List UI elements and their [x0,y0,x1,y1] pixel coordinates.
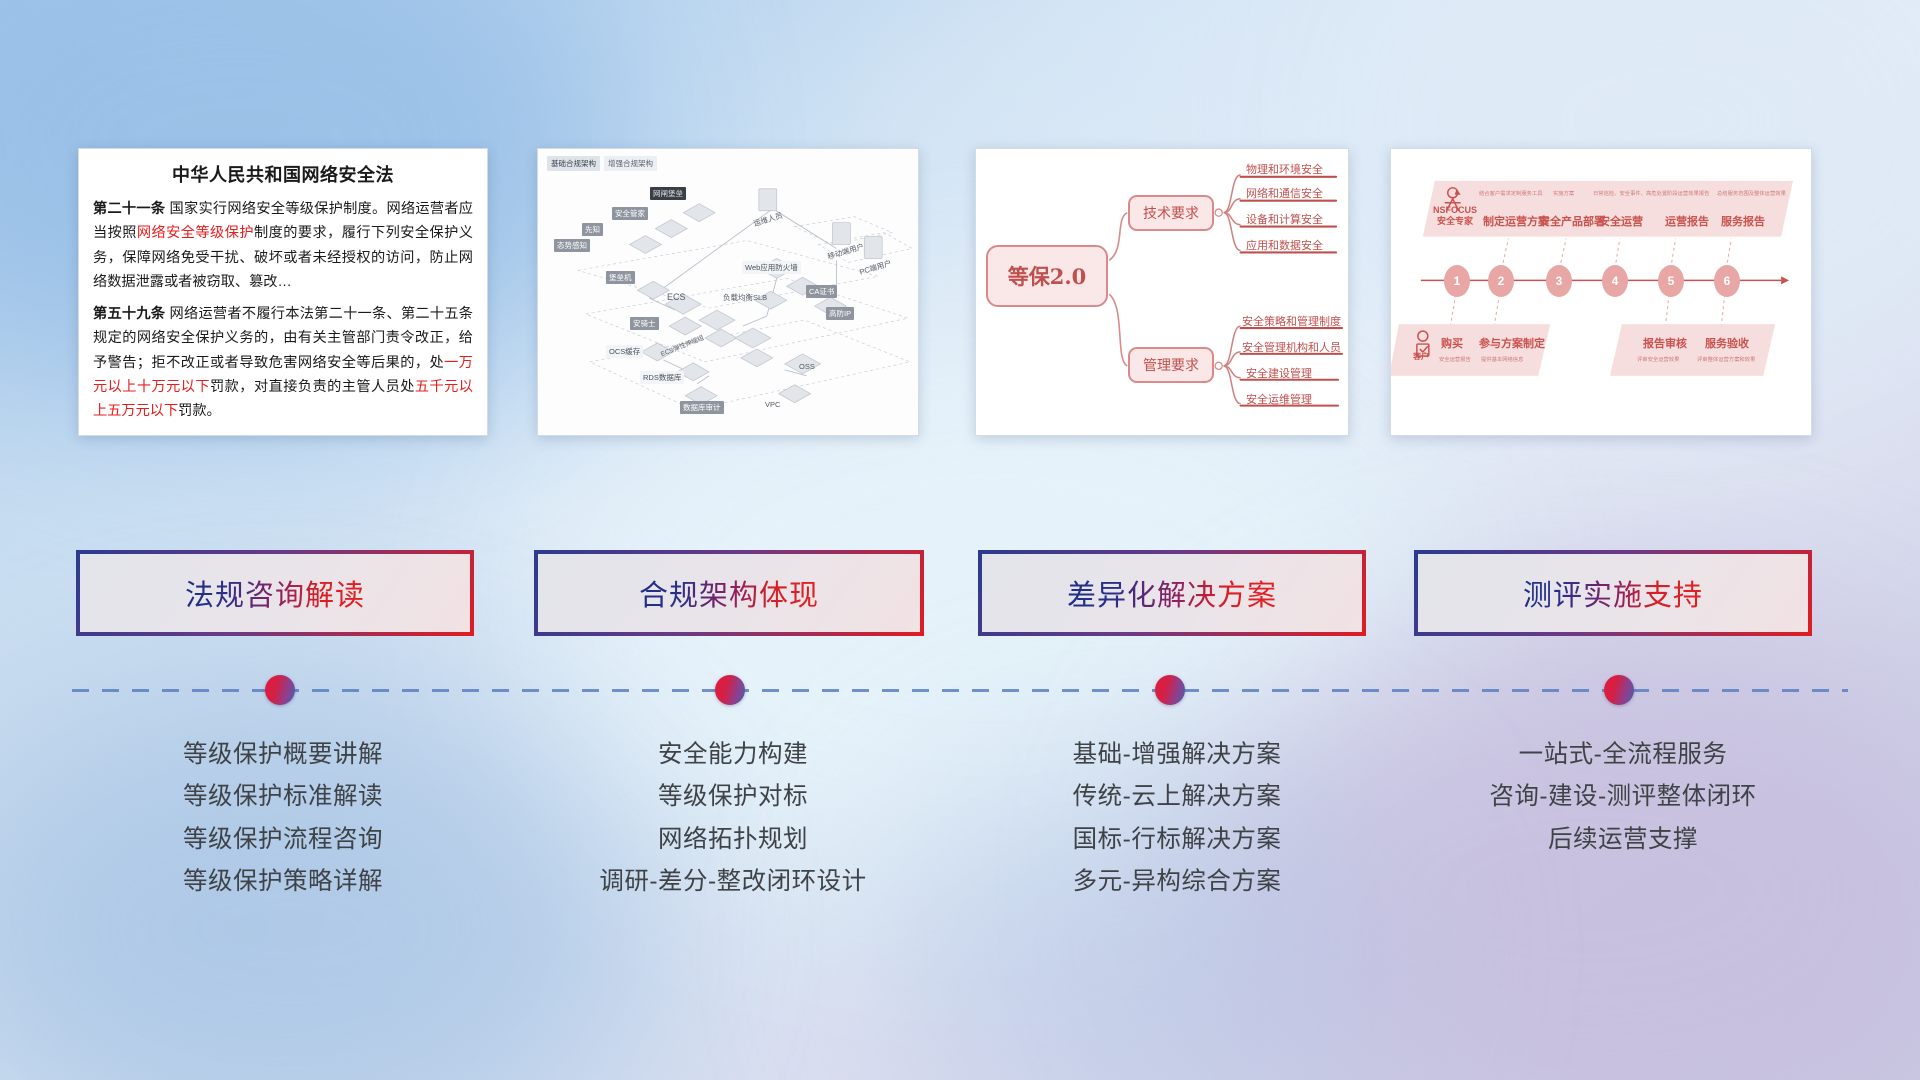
timeline-step-label: 购买 [1441,335,1463,351]
section-title-box-1[interactable]: 法规咨询解读 [76,550,474,636]
section-items-column-4: 一站式-全流程服务 咨询-建设-测评整体闭环 后续运营支撑 [1398,734,1848,861]
architecture-diagram: 基础合规架构 增强合规架构 [538,149,918,435]
section-titles-row: 法规咨询解读 合规架构体现 差异化解决方案 测评实施支持 [0,550,1920,636]
timeline-rail [72,688,1848,692]
list-item: 等级保护标准解读 [58,776,508,818]
list-item: 网络拓扑规划 [508,819,958,861]
timeline-step-sub: 结合客户需求定制服务工具 [1479,189,1543,197]
timeline-step-number: 3 [1546,265,1572,297]
timeline-step-sub: 安全运营报告 [1439,355,1471,363]
mindmap-branch-technical: 技术要求 [1128,195,1214,231]
section-title-text: 法规咨询解读 [185,572,365,614]
timeline-step-sub: 提供基本网络信息 [1481,355,1523,363]
service-timeline-diagram: 1 2 3 4 5 6 NSFOCUS安全专家 结合客户需求定制服务工具 制定运… [1391,149,1811,435]
arch-label-anqishi: 安骑士 [630,317,659,330]
mindmap-leaf: 安全策略和管理制度 [1242,313,1341,329]
timeline-step-number: 4 [1602,265,1628,297]
arch-label-gateway: 网闸堡垒 [650,187,686,200]
timeline-step-number: 1 [1444,265,1470,297]
arch-label-anti-ddos-ip: 高防IP [826,307,854,320]
timeline-step-sub: 实施方案 [1553,189,1574,197]
timeline-step-label: 安全产品部署 [1539,213,1605,229]
timeline-dot-2[interactable] [715,675,745,705]
timeline-step-label: 运营报告 [1665,213,1709,229]
law-highlight: 网络安全等级保护 [137,225,254,241]
timeline-dashed-line [72,689,1848,692]
arch-label-situational-awareness: 态势感知 [554,239,590,252]
law-text: 罚款，对直接负责的主管人员处 [210,379,415,395]
law-text: 罚款。 [178,403,221,419]
arch-label-security-butler: 安全管家 [612,207,648,220]
law-paragraph: 第五十九条 网络运营者不履行本法第二十一条、第二十五条规定的网络安全保护义务的，… [93,302,473,424]
list-item: 后续运营支撑 [1398,819,1848,861]
mindmap-leaf: 网络和通信安全 [1246,185,1323,201]
timeline-role-customer: 客户 [1413,351,1429,362]
card-cybersecurity-law[interactable]: 中华人民共和国网络安全法 第二十一条 国家实行网络安全等级保护制度。网络运营者应… [78,148,488,436]
law-article-number: 第二十一条 [93,201,165,217]
mindmap-root-node: 等保2.0 [986,245,1108,307]
section-title-text: 测评实施支持 [1523,572,1703,614]
timeline-step-label: 服务报告 [1721,213,1765,229]
arch-label-ca-cert: CA证书 [806,285,837,298]
arch-label-waf: Web应用防火墙 [742,261,801,274]
section-title-box-4[interactable]: 测评实施支持 [1414,550,1812,636]
list-item: 国标-行标解决方案 [952,819,1402,861]
timeline-step-number: 2 [1488,265,1514,297]
section-title-box-2[interactable]: 合规架构体现 [534,550,924,636]
list-item: 多元-异构综合方案 [952,861,1402,903]
law-document: 中华人民共和国网络安全法 第二十一条 国家实行网络安全等级保护制度。网络运营者应… [79,149,487,436]
list-item: 咨询-建设-测评整体闭环 [1398,776,1848,818]
timeline-step-number: 6 [1714,265,1740,297]
law-title: 中华人民共和国网络安全法 [93,161,473,187]
section-title-text: 合规架构体现 [639,572,819,614]
section-items-column-1: 等级保护概要讲解 等级保护标准解读 等级保护流程咨询 等级保护策略详解 [58,734,508,904]
section-items-column-2: 安全能力构建 等级保护对标 网络拓扑规划 调研-差分-整改闭环设计 [508,734,958,904]
timeline-step-label: 报告审核 [1643,335,1687,351]
timeline-dot-3[interactable] [1155,675,1185,705]
timeline-step-sub: 阶段运营效果报告 [1667,189,1709,197]
arch-label-bastion-host: 堡垒机 [606,271,635,284]
list-item: 调研-差分-整改闭环设计 [508,861,958,903]
list-item: 一站式-全流程服务 [1398,734,1848,776]
section-title-box-3[interactable]: 差异化解决方案 [978,550,1366,636]
timeline-step-sub: 评审安全运营效果 [1637,355,1679,363]
timeline-role-expert: NSFOCUS安全专家 [1433,205,1477,228]
card-service-timeline[interactable]: 1 2 3 4 5 6 NSFOCUS安全专家 结合客户需求定制服务工具 制定运… [1390,148,1812,436]
timeline-step-label: 安全运营 [1599,213,1643,229]
list-item: 基础-增强解决方案 [952,734,1402,776]
mindmap-branch-management: 管理要求 [1128,347,1214,383]
list-item: 等级保护流程咨询 [58,819,508,861]
mindmap-diagram: 等保2.0 技术要求 管理要求 物理和环境安全 网络和通信安全 设备和计算安全 … [976,149,1348,435]
arch-label-db-audit: 数据库审计 [680,401,724,414]
mindmap-leaf: 安全管理机构和人员 [1242,339,1341,355]
timeline-step-label: 参与方案制定 [1479,335,1545,351]
timeline-step-sub: 评审整体运营方案和效果 [1697,355,1755,363]
mindmap-leaf: 物理和环境安全 [1246,161,1323,177]
law-article-number: 第五十九条 [93,306,165,322]
card-compliance-architecture[interactable]: 基础合规架构 增强合规架构 [537,148,919,436]
arch-label-rds-db: RDS数据库 [640,371,684,384]
mindmap-leaf: 安全建设管理 [1246,365,1312,381]
timeline-dot-4[interactable] [1604,675,1634,705]
card-dengbao-mindmap[interactable]: 等保2.0 技术要求 管理要求 物理和环境安全 网络和通信安全 设备和计算安全 … [975,148,1349,436]
arch-label-ecs: ECS [664,291,689,303]
reference-cards-row: 中华人民共和国网络安全法 第二十一条 国家实行网络安全等级保护制度。网络运营者应… [0,148,1920,448]
mindmap-leaf: 安全运维管理 [1246,391,1312,407]
timeline-step-sub: 日常巡检、安全事件、高危处置 [1593,189,1667,197]
timeline-dot-1[interactable] [265,675,295,705]
arch-label-slb: 负载均衡SLB [720,291,770,304]
list-item: 等级保护概要讲解 [58,734,508,776]
arch-label-oss: OSS [796,361,818,372]
mindmap-leaf: 设备和计算安全 [1246,211,1323,227]
timeline-step-sub: 总结服务范围及整体运营效果 [1717,189,1786,197]
arch-label-ocs-cache: OCS缓存 [606,345,643,358]
list-item: 传统-云上解决方案 [952,776,1402,818]
list-item: 等级保护策略详解 [58,861,508,903]
list-item: 等级保护对标 [508,776,958,818]
arch-label-xianzhi: 先知 [582,223,603,236]
timeline-step-label: 服务验收 [1705,335,1749,351]
timeline-step-number: 5 [1658,265,1684,297]
section-title-text: 差异化解决方案 [1067,572,1277,614]
law-paragraph: 第二十一条 国家实行网络安全等级保护制度。网络运营者应当按照网络安全等级保护制度… [93,197,473,295]
mindmap-leaf: 应用和数据安全 [1246,237,1323,253]
section-items-column-3: 基础-增强解决方案 传统-云上解决方案 国标-行标解决方案 多元-异构综合方案 [952,734,1402,904]
arch-label-vpc: VPC [762,399,783,410]
list-item: 安全能力构建 [508,734,958,776]
